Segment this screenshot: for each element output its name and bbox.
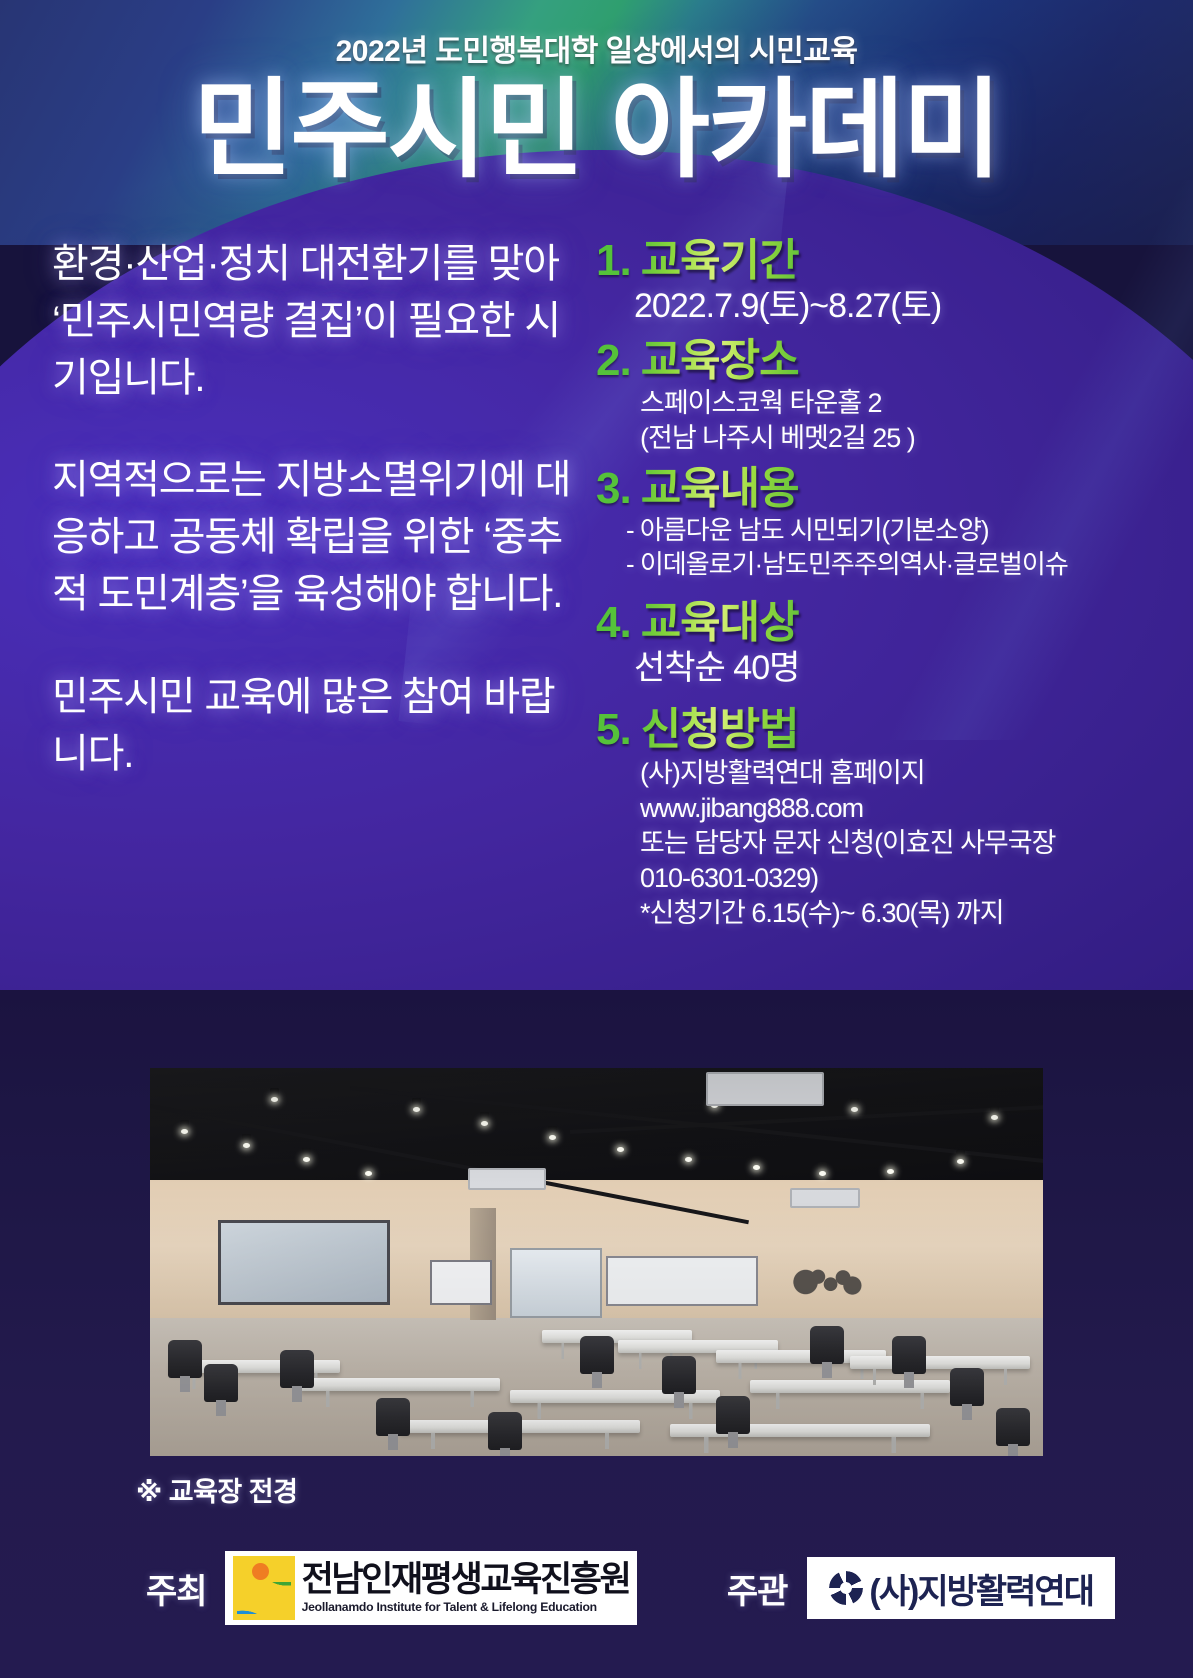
apply-homepage-label: (사)지방활력연대 홈페이지 bbox=[596, 756, 1176, 791]
detail-heading-label-5: 신청방법 bbox=[641, 705, 799, 755]
host-logo: 전남인재평생교육진흥원 Jeollanamdo Institute for Ta… bbox=[225, 1551, 638, 1625]
detail-item-audience: 4. 교육대상 선착순 40명 bbox=[596, 598, 1176, 690]
detail-number-1: 1. bbox=[596, 236, 631, 286]
apply-phone-number: 010-6301-0329) bbox=[596, 861, 1176, 896]
detail-heading-label-2: 교육장소 bbox=[641, 336, 799, 386]
detail-number-4: 4. bbox=[596, 598, 631, 648]
host-logo-english: Jeollanamdo Institute for Talent & Lifel… bbox=[302, 1600, 630, 1614]
detail-heading-label-1: 교육기간 bbox=[641, 236, 799, 286]
photo-caption: ※ 교육장 전경 bbox=[136, 1470, 297, 1509]
poster-title: 민주시민 아카데미 bbox=[0, 72, 1193, 189]
detail-value-period: 2022.7.9(토)~8.27(토) bbox=[596, 286, 1176, 327]
detail-item-curriculum: 3. 교육내용 - 아름다운 남도 시민되기(기본소양) - 이데올로기·남도민… bbox=[596, 464, 1176, 582]
wave-icon bbox=[237, 1582, 291, 1614]
organizer-logo: (사)지방활력연대 bbox=[807, 1557, 1115, 1619]
detail-heading-apply: 5. 신청방법 bbox=[596, 705, 1176, 755]
intro-paragraph-3: 민주시민 교육에 많은 참여 바랍니다. bbox=[52, 669, 572, 783]
intro-paragraph-2: 지역적으로는 지방소멸위기에 대응하고 공동체 확립을 위한 ‘중추적 도민계층… bbox=[52, 452, 572, 622]
photo-tone-overlay bbox=[150, 1068, 1043, 1456]
detail-number-2: 2. bbox=[596, 336, 631, 386]
sun-icon bbox=[252, 1563, 269, 1580]
detail-heading-label-3: 교육내용 bbox=[641, 464, 799, 514]
apply-sms-contact: 또는 담당자 문자 신청(이효진 사무국장 bbox=[596, 826, 1176, 861]
details-column: 1. 교육기간 2022.7.9(토)~8.27(토) 2. 교육장소 스페이스… bbox=[596, 236, 1176, 935]
detail-number-5: 5. bbox=[596, 705, 631, 755]
footer-organizer-group: 주관 (사)지방활력연대 bbox=[727, 1557, 1193, 1619]
detail-item-venue: 2. 교육장소 스페이스코웍 타운홀 2 (전남 나주시 베멧2길 25 ) bbox=[596, 336, 1176, 456]
apply-deadline: *신청기간 6.15(수)~ 6.30(목) 까지 bbox=[596, 896, 1176, 931]
footer: 주최 전남인재평생교육진흥원 Jeollanamdo Institute for… bbox=[0, 1528, 1193, 1648]
footer-host-label: 주최 bbox=[146, 1564, 207, 1613]
intro-text-column: 환경·산업·정치 대전환기를 맞아 ‘민주시민역량 결집’이 필요한 시기입니다… bbox=[52, 236, 572, 782]
detail-item-period: 1. 교육기간 2022.7.9(토)~8.27(토) bbox=[596, 236, 1176, 328]
host-logo-korean: 전남인재평생교육진흥원 bbox=[302, 1562, 630, 1598]
detail-heading-curriculum: 3. 교육내용 bbox=[596, 464, 1176, 514]
detail-number-3: 3. bbox=[596, 464, 631, 514]
poster-kicker: 2022년 도민행복대학 일상에서의 시민교육 bbox=[0, 26, 1193, 70]
detail-value-audience: 선착순 40명 bbox=[596, 648, 1176, 689]
detail-heading-label-4: 교육대상 bbox=[641, 598, 799, 648]
organizer-logo-korean: (사)지방활력연대 bbox=[869, 1564, 1093, 1613]
host-logo-text: 전남인재평생교육진흥원 Jeollanamdo Institute for Ta… bbox=[302, 1562, 630, 1614]
intro-paragraph-1: 환경·산업·정치 대전환기를 맞아 ‘민주시민역량 결집’이 필요한 시기입니다… bbox=[52, 236, 572, 406]
footer-organizer-label: 주관 bbox=[727, 1564, 788, 1613]
apply-website-url[interactable]: www.jibang888.com bbox=[596, 791, 1176, 826]
footer-host-group: 주최 전남인재평생교육진흥원 Jeollanamdo Institute for… bbox=[0, 1551, 637, 1625]
poster-root: 2022년 도민행복대학 일상에서의 시민교육 민주시민 아카데미 환경·산업·… bbox=[0, 0, 1193, 1678]
detail-value-venue-address: (전남 나주시 베멧2길 25 ) bbox=[596, 421, 1176, 456]
venue-photo bbox=[150, 1068, 1043, 1456]
detail-heading-venue: 2. 교육장소 bbox=[596, 336, 1176, 386]
detail-heading-audience: 4. 교육대상 bbox=[596, 598, 1176, 648]
jeollanamdo-emblem-icon bbox=[233, 1556, 295, 1620]
detail-item-apply: 5. 신청방법 (사)지방활력연대 홈페이지 www.jibang888.com… bbox=[596, 705, 1176, 931]
pinwheel-emblem-icon bbox=[829, 1571, 863, 1605]
curriculum-bullet-2: - 이데올로기·남도민주주의역사·글로벌이슈 bbox=[596, 548, 1176, 582]
detail-heading-period: 1. 교육기간 bbox=[596, 236, 1176, 286]
detail-value-venue-name: 스페이스코웍 타운홀 2 bbox=[596, 386, 1176, 421]
curriculum-bullet-1: - 아름다운 남도 시민되기(기본소양) bbox=[596, 514, 1176, 548]
